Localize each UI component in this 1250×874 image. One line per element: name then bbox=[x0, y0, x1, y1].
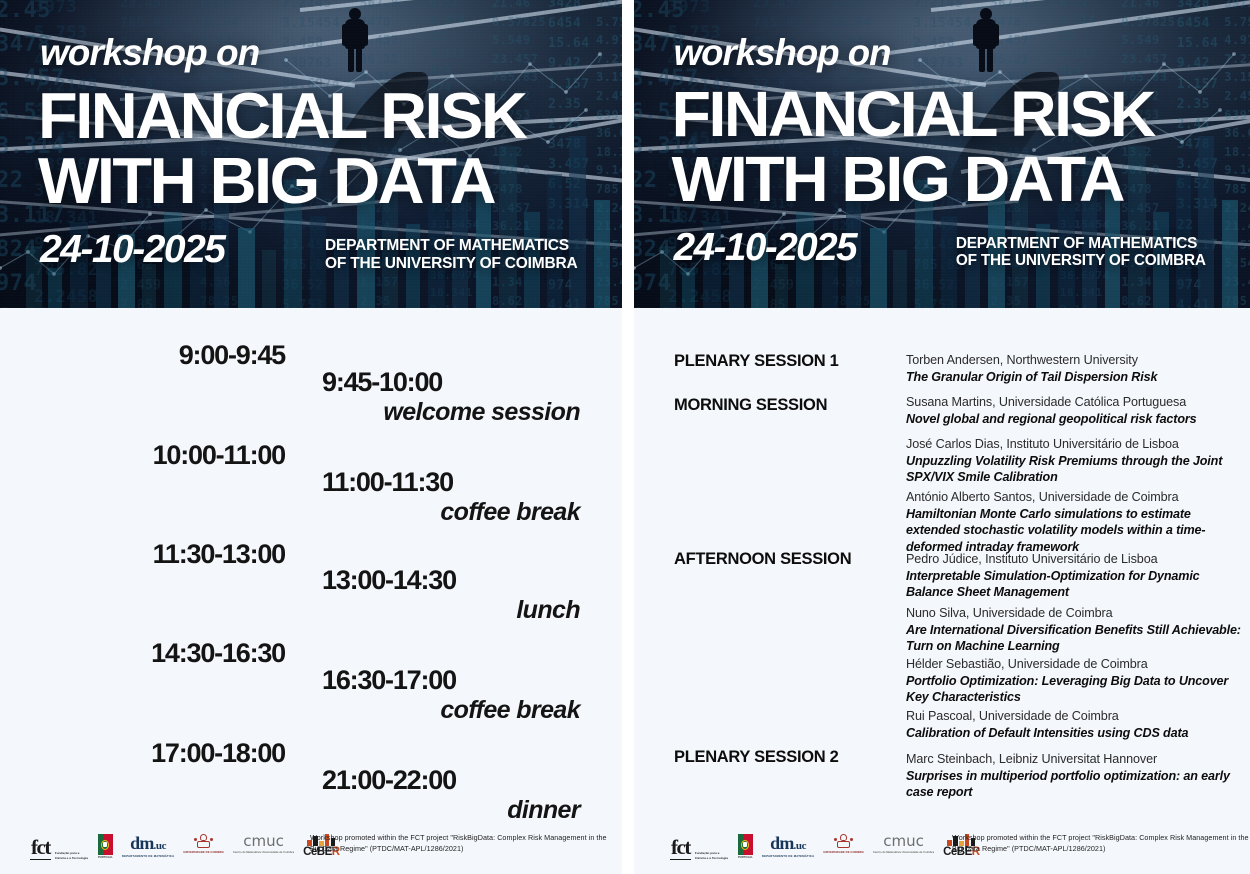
department-line-2: OF THE UNIVERSITY OF COIMBRA bbox=[325, 255, 577, 273]
uc-seal-label: UNIVERSIDADE DE COIMBRA bbox=[823, 851, 864, 854]
talk-title: Are International Diversification Benefi… bbox=[906, 622, 1242, 654]
schedule-time: 10:00-11:00 bbox=[20, 442, 285, 470]
program-talk: António Alberto Santos, Universidade de … bbox=[906, 489, 1242, 555]
schedule-time: 9:45-10:00 bbox=[322, 369, 580, 397]
schedule-time: 13:00-14:30 bbox=[322, 567, 580, 595]
poster-gutter bbox=[622, 0, 634, 874]
schedule-item: 14:30-16:30afternoon session bbox=[20, 640, 285, 696]
talk-title: Portfolio Optimization: Leveraging Big D… bbox=[906, 673, 1242, 705]
program-talk: Pedro Júdice, Instituto Universitário de… bbox=[906, 551, 1242, 601]
portugal-flag-icon bbox=[98, 834, 113, 855]
cmuc-logo: cmucCentro de Matemática Universidade de… bbox=[233, 834, 294, 860]
fct-wordmark: fct bbox=[670, 838, 691, 860]
dmuc-dm: dm bbox=[770, 833, 793, 853]
dm-uc-logo: dm.ucDEPARTAMENTO DE MATEMÁTICA bbox=[762, 834, 814, 860]
portugal-label: PORTUGAL bbox=[738, 856, 753, 859]
program-talk: Hélder Sebastião, Universidade de Coimbr… bbox=[906, 656, 1242, 706]
kicker-text: workshop on bbox=[674, 32, 891, 74]
talk-author: Nuno Silva, Universidade de Coimbra bbox=[906, 605, 1242, 621]
schedule-label: plenary session 1 bbox=[0, 472, 285, 498]
talk-author: Torben Andersen, Northwestern University bbox=[906, 352, 1242, 368]
program-list: PLENARY SESSION 1Torben Andersen, Northw… bbox=[634, 308, 1250, 874]
program-section-heading: AFTERNOON SESSION bbox=[674, 550, 851, 569]
schedule-label: lunch bbox=[322, 597, 580, 623]
talk-author: António Alberto Santos, Universidade de … bbox=[906, 489, 1242, 505]
talk-title: Surprises in multiperiod portfolio optim… bbox=[906, 768, 1242, 800]
sponsor-logos-right: fctFundação para a Ciência e a Tecnologi… bbox=[670, 834, 980, 860]
program-section-heading: MORNING SESSION bbox=[674, 396, 827, 415]
schedule-label: dinner bbox=[322, 797, 580, 823]
fct-wordmark: fct bbox=[30, 838, 51, 860]
talk-author: Rui Pascoal, Universidade de Coimbra bbox=[906, 708, 1242, 724]
footer-left: fctFundação para a Ciência e a Tecnologi… bbox=[0, 826, 622, 874]
talk-author: José Carlos Dias, Instituto Universitári… bbox=[906, 436, 1242, 452]
cmuc-wordmark: cmuc bbox=[883, 834, 924, 849]
uc-crown-icon bbox=[837, 834, 850, 849]
schedule-item: 10:00-11:00plenary session 1 bbox=[20, 442, 285, 498]
schedule-list: 9:00-9:45registration10:00-11:00plenary … bbox=[0, 308, 622, 874]
department-line-2: OF THE UNIVERSITY OF COIMBRA bbox=[956, 252, 1206, 269]
schedule-item: 11:30-13:00morning session bbox=[20, 541, 285, 597]
dmuc-subtitle: DEPARTAMENTO DE MATEMÁTICA bbox=[762, 854, 814, 858]
talk-title: The Granular Origin of Tail Dispersion R… bbox=[906, 369, 1242, 385]
fct-logo: fctFundação para a Ciência e a Tecnologi… bbox=[670, 834, 729, 860]
event-date: 24-10-2025 bbox=[674, 226, 857, 270]
schedule-item: 9:45-10:00welcome session bbox=[322, 369, 580, 425]
schedule-label: plenary session 2 bbox=[0, 770, 285, 796]
program-talk: Rui Pascoal, Universidade de CoimbraCali… bbox=[906, 708, 1242, 741]
talk-title: Calibration of Default Intensities using… bbox=[906, 725, 1242, 741]
portugal-republic-logo: PORTUGAL bbox=[738, 834, 753, 860]
cmuc-wordmark: cmuc bbox=[243, 834, 284, 849]
schedule-item: 13:00-14:30lunch bbox=[322, 567, 580, 623]
schedule-time: 17:00-18:00 bbox=[20, 740, 285, 768]
poster-hero-left: 2.45 3478 3.457 6.52 3.314 22 3.117 824 … bbox=[0, 0, 622, 308]
talk-title: Hamiltonian Monte Carlo simulations to e… bbox=[906, 506, 1242, 554]
department-line-1: DEPARTMENT OF MATHEMATICS bbox=[956, 235, 1206, 252]
schedule-time: 21:00-22:00 bbox=[322, 767, 580, 795]
talk-title: Unpuzzling Volatility Risk Premiums thro… bbox=[906, 453, 1242, 485]
schedule-time: 11:00-11:30 bbox=[322, 469, 580, 497]
portugal-republic-logo: PORTUGAL bbox=[98, 834, 113, 860]
department-text: DEPARTMENT OF MATHEMATICS OF THE UNIVERS… bbox=[956, 235, 1206, 270]
program-talk: Susana Martins, Universidade Católica Po… bbox=[906, 394, 1242, 427]
fct-logo: fctFundação para a Ciência e a Tecnologi… bbox=[30, 834, 89, 860]
talk-author: Marc Steinbach, Leibniz Universitat Hann… bbox=[906, 751, 1242, 767]
schedule-time: 14:30-16:30 bbox=[20, 640, 285, 668]
title-line-2: WITH BIG DATA bbox=[38, 143, 494, 218]
schedule-time: 9:00-9:45 bbox=[20, 342, 285, 370]
dmuc-dm: dm bbox=[130, 833, 153, 853]
uc-seal-label: UNIVERSIDADE DE COIMBRA bbox=[183, 851, 224, 854]
schedule-label: afternoon session bbox=[0, 670, 285, 696]
talk-title: Interpretable Simulation-Optimization fo… bbox=[906, 568, 1242, 600]
program-talk: José Carlos Dias, Instituto Universitári… bbox=[906, 436, 1242, 486]
dmuc-wordmark: dm.uc bbox=[770, 834, 806, 852]
title-line-1: FINANCIAL RISK bbox=[38, 78, 525, 153]
dm-uc-logo: dm.ucDEPARTAMENTO DE MATEMÁTICA bbox=[122, 834, 174, 860]
schedule-label: coffee break bbox=[322, 697, 580, 723]
schedule-label: registration bbox=[0, 372, 285, 398]
schedule-item: 16:30-17:00coffee break bbox=[322, 667, 580, 723]
program-talk: Nuno Silva, Universidade de CoimbraAre I… bbox=[906, 605, 1242, 655]
universidade-de-coimbra-seal-logo: UNIVERSIDADE DE COIMBRA bbox=[823, 834, 864, 860]
talk-author: Pedro Júdice, Instituto Universitário de… bbox=[906, 551, 1242, 567]
poster-left-schedule: 2.45 3478 3.457 6.52 3.314 22 3.117 824 … bbox=[0, 0, 622, 874]
program-talk: Torben Andersen, Northwestern University… bbox=[906, 352, 1242, 385]
dmuc-subtitle: DEPARTAMENTO DE MATEMÁTICA bbox=[122, 854, 174, 858]
event-date: 24-10-2025 bbox=[40, 228, 225, 272]
schedule-time: 11:30-13:00 bbox=[20, 541, 285, 569]
universidade-de-coimbra-seal-logo: UNIVERSIDADE DE COIMBRA bbox=[183, 834, 224, 860]
schedule-label: morning session bbox=[0, 571, 285, 597]
title-line-2: WITH BIG DATA bbox=[672, 142, 1123, 216]
talk-title: Novel global and regional geopolitical r… bbox=[906, 411, 1242, 427]
fct-subtitle: Fundação para a Ciência e a Tecnologia bbox=[55, 851, 89, 860]
kicker-text: workshop on bbox=[40, 32, 259, 74]
cmuc-logo: cmucCentro de Matemática Universidade de… bbox=[873, 834, 934, 860]
schedule-item: 9:00-9:45registration bbox=[20, 342, 285, 398]
portugal-flag-icon bbox=[738, 834, 753, 855]
footer-right: fctFundação para a Ciência e a Tecnologi… bbox=[634, 826, 1250, 874]
cmuc-subtitle: Centro de Matemática Universidade de Coi… bbox=[873, 851, 934, 855]
department-line-1: DEPARTMENT OF MATHEMATICS bbox=[325, 237, 577, 255]
program-section-heading: PLENARY SESSION 1 bbox=[674, 352, 839, 371]
poster-pair: 2.45 3478 3.457 6.52 3.314 22 3.117 824 … bbox=[0, 0, 1250, 874]
talk-author: Hélder Sebastião, Universidade de Coimbr… bbox=[906, 656, 1242, 672]
schedule-label: welcome session bbox=[322, 399, 580, 425]
promo-text-left: Workshop promoted within the FCT project… bbox=[310, 833, 610, 854]
schedule-time: 16:30-17:00 bbox=[322, 667, 580, 695]
hero-text-block: workshop on FINANCIAL RISK WITH BIG DATA… bbox=[0, 0, 622, 308]
sponsor-logos-left: fctFundação para a Ciência e a Tecnologi… bbox=[30, 834, 340, 860]
program-section-heading: PLENARY SESSION 2 bbox=[674, 748, 839, 767]
title-line-1: FINANCIAL RISK bbox=[672, 77, 1154, 151]
poster-hero-right: 2.45 3478 3.457 6.52 3.314 22 3.117 824 … bbox=[634, 0, 1250, 308]
uc-crown-icon bbox=[197, 834, 210, 849]
schedule-label: coffee break bbox=[322, 499, 580, 525]
poster-right-program: 2.45 3478 3.457 6.52 3.314 22 3.117 824 … bbox=[634, 0, 1250, 874]
cmuc-subtitle: Centro de Matemática Universidade de Coi… bbox=[233, 851, 294, 855]
hero-text-block: workshop on FINANCIAL RISK WITH BIG DATA… bbox=[634, 0, 1250, 308]
schedule-item: 21:00-22:00dinner bbox=[322, 767, 580, 823]
promo-text-right: Workshop promoted within the FCT project… bbox=[952, 833, 1250, 854]
schedule-item: 11:00-11:30coffee break bbox=[322, 469, 580, 525]
dmuc-uc: .uc bbox=[794, 840, 807, 852]
department-text: DEPARTMENT OF MATHEMATICS OF THE UNIVERS… bbox=[325, 237, 577, 272]
talk-author: Susana Martins, Universidade Católica Po… bbox=[906, 394, 1242, 410]
fct-subtitle: Fundação para a Ciência e a Tecnologia bbox=[695, 851, 729, 860]
program-talk: Marc Steinbach, Leibniz Universitat Hann… bbox=[906, 751, 1242, 801]
dmuc-wordmark: dm.uc bbox=[130, 834, 166, 852]
dmuc-uc: .uc bbox=[154, 840, 167, 852]
schedule-item: 17:00-18:00plenary session 2 bbox=[20, 740, 285, 796]
portugal-label: PORTUGAL bbox=[98, 856, 113, 859]
